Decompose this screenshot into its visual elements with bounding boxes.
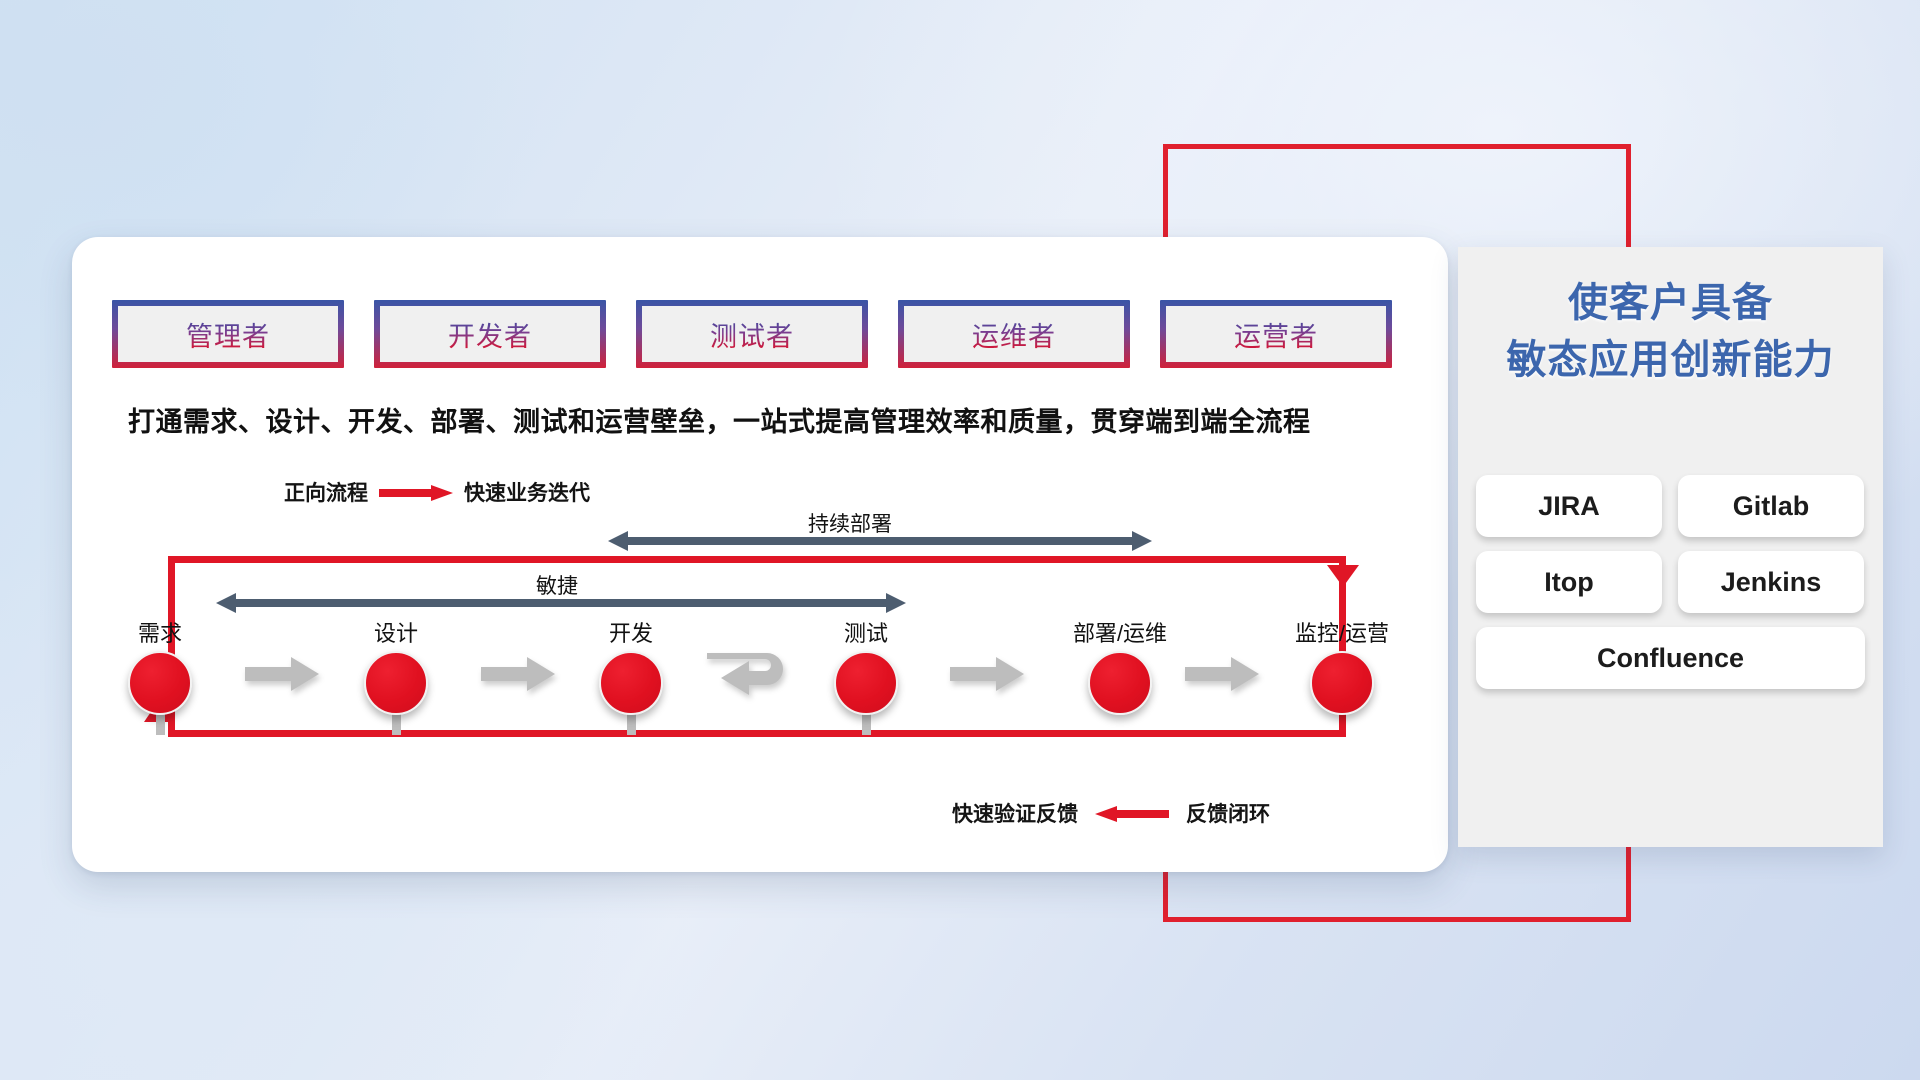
agile-arrow-icon <box>216 593 906 613</box>
role-label: 开发者 <box>448 315 532 354</box>
pipeline-node-deploy-ops[interactable]: 部署/运维 <box>1040 616 1200 715</box>
pipeline-node-development[interactable]: 开发 <box>571 616 691 715</box>
role-box-row: 管理者 开发者 测试者 运维者 运营者 <box>112 300 1392 368</box>
feedback-right-label: 反馈闭环 <box>1186 798 1270 828</box>
panel-title-line2: 敏态应用创新能力 <box>1458 332 1883 389</box>
panel-title: 使客户具备 敏态应用创新能力 <box>1458 275 1883 389</box>
arrow-left-red-icon <box>1095 806 1169 821</box>
pipeline-node-label: 监控/运营 <box>1262 616 1422 648</box>
pipeline-node-testing[interactable]: 测试 <box>806 616 926 715</box>
block-arrow-right-icon-1 <box>245 657 319 691</box>
pipeline-node-label: 开发 <box>571 616 691 648</box>
pipeline-node-dot <box>364 651 428 715</box>
pipeline-node-design[interactable]: 设计 <box>336 616 456 715</box>
forward-flow-right-label: 快速业务迭代 <box>464 477 590 507</box>
tool-chip-jenkins[interactable]: Jenkins <box>1678 551 1864 613</box>
feedback-loop-bottom <box>168 730 1346 737</box>
pipeline-node-dot <box>1088 651 1152 715</box>
feedback-loop-arrow-down-icon <box>1327 565 1359 587</box>
description-text: 打通需求、设计、开发、部署、测试和运营壁垒，一站式提高管理效率和质量，贯穿端到端… <box>128 400 1428 439</box>
feedback-left-label: 快速验证反馈 <box>952 798 1078 828</box>
pipeline-node-label: 设计 <box>336 616 456 648</box>
tool-chip-jira[interactable]: JIRA <box>1476 475 1662 537</box>
pipeline-node-label: 测试 <box>806 616 926 648</box>
feedback-loop-top <box>168 556 1346 563</box>
loop-arrow-icon <box>705 645 805 705</box>
forward-flow-left-label: 正向流程 <box>284 477 368 507</box>
pipeline-node-monitor-operations[interactable]: 监控/运营 <box>1262 616 1422 715</box>
pipeline-node-dot <box>128 651 192 715</box>
tool-chip-gitlab[interactable]: Gitlab <box>1678 475 1864 537</box>
role-label: 管理者 <box>186 315 270 354</box>
forward-flow-legend: 正向流程 快速业务迭代 <box>284 477 590 507</box>
value-panel: 使客户具备 敏态应用创新能力 JIRA Gitlab Itop Jenkins … <box>1458 247 1883 847</box>
role-box-tester[interactable]: 测试者 <box>636 300 868 368</box>
tool-chip-itop[interactable]: Itop <box>1476 551 1662 613</box>
role-label: 运营者 <box>1234 315 1318 354</box>
block-arrow-right-icon-3 <box>950 657 1024 691</box>
continuous-deployment-arrow-icon <box>608 531 1152 551</box>
pipeline-node-dot <box>1310 651 1374 715</box>
outer-red-bracket-bottom <box>1163 917 1631 922</box>
pipeline-node-label: 部署/运维 <box>1040 616 1200 648</box>
role-box-developer[interactable]: 开发者 <box>374 300 606 368</box>
tool-chip-list: JIRA Gitlab Itop Jenkins Confluence <box>1476 475 1865 689</box>
block-arrow-right-icon-2 <box>481 657 555 691</box>
role-box-ops[interactable]: 运维者 <box>898 300 1130 368</box>
feedback-legend: 快速验证反馈 反馈闭环 <box>952 798 1270 828</box>
role-box-manager[interactable]: 管理者 <box>112 300 344 368</box>
panel-title-line1: 使客户具备 <box>1458 275 1883 332</box>
block-arrow-right-icon-4 <box>1185 657 1259 691</box>
pipeline-node-requirement[interactable]: 需求 <box>100 616 220 715</box>
arrow-right-red-icon <box>379 485 453 500</box>
role-label: 测试者 <box>710 315 794 354</box>
role-box-operations[interactable]: 运营者 <box>1160 300 1392 368</box>
pipeline-node-dot <box>599 651 663 715</box>
slide-canvas: 管理者 开发者 测试者 运维者 运营者 打通需求、设计、开发、部署、测试和运营壁… <box>0 0 1920 1080</box>
pipeline-node-label: 需求 <box>100 616 220 648</box>
role-label: 运维者 <box>972 315 1056 354</box>
tool-chip-confluence[interactable]: Confluence <box>1476 627 1865 689</box>
pipeline-node-dot <box>834 651 898 715</box>
